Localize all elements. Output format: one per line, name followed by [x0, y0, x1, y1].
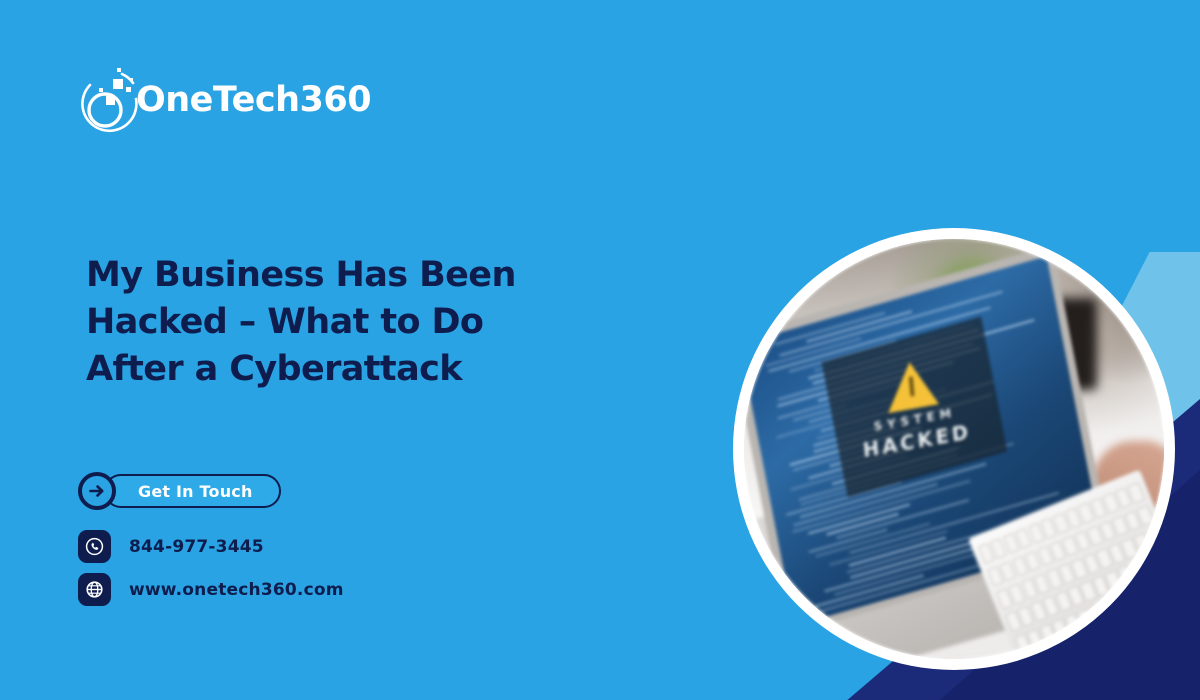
warning-triangle-icon — [884, 357, 939, 412]
get-in-touch-cta[interactable]: Get In Touch — [78, 472, 281, 510]
blog-banner: SYSTEM HACKED — [0, 0, 1200, 700]
arrow-right-circle-icon[interactable] — [78, 472, 116, 510]
globe-icon — [78, 573, 111, 606]
page-title-line-2: Hacked – What to Do — [86, 299, 556, 346]
contact-row-phone[interactable]: 844-977-3445 — [78, 530, 344, 563]
page-title: My Business Has Been Hacked – What to Do… — [86, 252, 556, 393]
contact-phone-value: 844-977-3445 — [129, 537, 264, 557]
hero-photo: SYSTEM HACKED — [744, 239, 1164, 659]
brand-logo-text: OneTech360 — [136, 80, 371, 120]
page-title-line-3: After a Cyberattack — [86, 346, 556, 393]
circuit-circle-logo-icon — [76, 55, 150, 145]
brand-logo[interactable]: OneTech360 — [76, 55, 371, 145]
page-title-line-1: My Business Has Been — [86, 252, 556, 299]
contact-info: 844-977-3445 www.onetech360.com — [78, 530, 344, 616]
photo-system-hacked-overlay: SYSTEM HACKED — [821, 316, 1007, 497]
contact-row-website[interactable]: www.onetech360.com — [78, 573, 344, 606]
phone-icon — [78, 530, 111, 563]
hero-photo-circle: SYSTEM HACKED — [733, 228, 1175, 670]
get-in-touch-button[interactable]: Get In Touch — [104, 474, 281, 508]
contact-website-value: www.onetech360.com — [129, 580, 344, 600]
